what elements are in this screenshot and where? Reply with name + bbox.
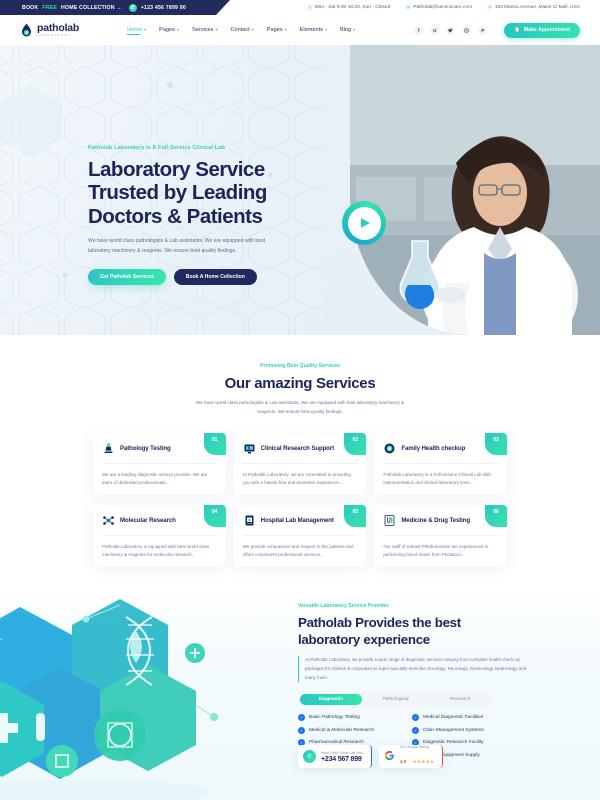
service-card-text: Patholab Laboratory is a Full-Service Cl… — [383, 471, 498, 488]
phone-card-label: Need Help? Book Lab Visit — [321, 751, 363, 755]
hero-title-line-1: Laboratory Service — [88, 158, 318, 181]
service-card[interactable]: 02 Clinical Research Support At Patholab… — [234, 433, 367, 495]
divider — [102, 535, 217, 536]
top-bar-cta-suffix: HOME COLLECTION → — [61, 5, 122, 11]
about-title-line-2: laboratory experience — [298, 631, 548, 648]
hero-title-line-2: Trusted by Leading — [88, 181, 318, 204]
tab-diagnostic[interactable]: Diagnostic — [300, 694, 363, 705]
divider — [383, 463, 498, 464]
tab-pathological[interactable]: Pathological — [364, 694, 427, 705]
clock-icon: ◷ — [307, 5, 311, 11]
checklist-item: ✓ Basic Pathology Testing — [298, 714, 406, 721]
nav-item-home[interactable]: Home ▾ — [127, 27, 146, 34]
chevron-down-icon: ▾ — [252, 27, 254, 32]
get-patholab-services-button[interactable]: Get Patholab Services — [88, 269, 166, 285]
checklist-item: ✓ Clinic Management Systems — [412, 727, 538, 734]
landing-page: BOOK FREE HOME COLLECTION → ✆ +123 456 7… — [0, 0, 600, 800]
service-card-text: We are a leading diagnostic service prov… — [102, 471, 217, 488]
service-card[interactable]: 06 Medicine & Drug Testing Our staff of … — [374, 505, 507, 567]
logo-subtitle: LABORATORY — [37, 34, 79, 37]
check-icon: ✓ — [412, 714, 419, 721]
nav-item-home-label: Home — [127, 27, 142, 33]
google-icon — [384, 750, 395, 764]
top-bar-info: ◷ Mon - Sat 8.00-18.00, Sun - Closed ✉ P… — [216, 0, 600, 15]
top-bar-address: ⚲ 183 Marina Avenue, Miami Ci Mall, USA — [488, 5, 580, 11]
checklist-item-label: Basic Pathology Testing — [309, 715, 360, 720]
family-health-icon — [383, 442, 396, 455]
check-icon: ✓ — [412, 727, 419, 734]
service-card[interactable]: 03 Family Health checkup Patholab Labora… — [374, 433, 507, 495]
hero-content: Patholab Laboratory Is A Full-Service Cl… — [88, 145, 318, 285]
top-bar: BOOK FREE HOME COLLECTION → ✆ +123 456 7… — [0, 0, 600, 15]
drug-test-icon — [383, 514, 396, 527]
services-title: Our amazing Services — [0, 375, 600, 392]
divider — [383, 535, 498, 536]
service-card-title: Pathology Testing — [120, 445, 171, 452]
top-bar-cta[interactable]: BOOK FREE HOME COLLECTION → ✆ +123 456 7… — [0, 0, 216, 15]
top-bar-address-text: 183 Marina Avenue, Miami Ci Mall, USA — [495, 5, 580, 10]
checklist-item-label: Medical Diagnostic Facilities — [423, 715, 483, 720]
chevron-down-icon: ▾ — [325, 27, 327, 32]
google-rating-card[interactable]: Our Google Rating 4.9 ★★★★★ — [379, 745, 443, 768]
google-icon[interactable]: G — [430, 26, 439, 35]
chevron-down-icon: ▾ — [177, 27, 179, 32]
rating-value: 4.9 — [400, 759, 406, 764]
tab-research[interactable]: Research — [429, 694, 492, 705]
services-description: We have world class pathologists & Lab a… — [195, 399, 405, 416]
about-title-line-1: Patholab Provides the best — [298, 614, 548, 631]
services-eyebrow: Promising Best Quality Services — [0, 363, 600, 369]
hospital-report-icon — [243, 514, 256, 527]
nav-item-services-label: Services — [192, 27, 213, 33]
twitter-icon[interactable] — [446, 26, 455, 35]
nav-item-services[interactable]: Services ▾ — [192, 27, 217, 34]
service-card[interactable]: 05 Hospital Lab Management We provide co… — [234, 505, 367, 567]
scientist-photo — [350, 45, 600, 335]
about-eyebrow: Versatile Laboratory Service Provider — [298, 603, 548, 609]
top-bar-phone[interactable]: +123 456 7899 90 — [141, 5, 186, 11]
phone-card-value: +234 567 899 — [321, 756, 363, 763]
services-section: Promising Best Quality Services Our amaz… — [0, 335, 600, 585]
mail-icon: ✉ — [406, 5, 410, 11]
hero-title-line-3: Doctors & Patients — [88, 205, 318, 228]
nav-item-elements[interactable]: Elements ▾ — [300, 27, 327, 34]
pinterest-icon[interactable]: P — [478, 26, 487, 35]
service-card-title: Clinical Research Support — [261, 445, 334, 452]
divider — [102, 463, 217, 464]
service-card-title: Molecular Research — [120, 517, 176, 524]
about-info-cards: ✆ Need Help? Book Lab Visit +234 567 899 — [298, 745, 443, 768]
service-card-number: 03 — [485, 433, 507, 455]
service-card-text: Our staff of trained Phlebotomists are e… — [383, 543, 498, 560]
service-card-number: 05 — [344, 505, 366, 527]
phone-icon: ✆ — [129, 4, 137, 12]
nav-item-pages[interactable]: Pages ▾ — [159, 27, 179, 34]
hero-eyebrow: Patholab Laboratory Is A Full-Service Cl… — [88, 145, 318, 151]
service-cards: 01 Pathology Testing We are a leading di… — [93, 433, 507, 567]
calendar-icon: 📋 — [514, 27, 520, 33]
service-card-number: 02 — [344, 433, 366, 455]
facebook-icon[interactable]: f — [414, 26, 423, 35]
hero-buttons: Get Patholab Services Book A Home Collec… — [88, 269, 318, 285]
checklist-item: ✓ Medical Diagnostic Facilities — [412, 714, 538, 721]
about-title: Patholab Provides the best laboratory ex… — [298, 614, 548, 648]
hero-section: Patholab Laboratory Is A Full-Service Cl… — [0, 45, 600, 335]
social-links: f G P 📋 Make Appointment — [414, 23, 580, 38]
hero-description: We have world class pathologists & Lab a… — [88, 237, 288, 256]
hero-title: Laboratory Service Trusted by Leading Do… — [88, 158, 318, 228]
nav-item-pages-2-label: Pages — [267, 27, 283, 33]
checklist-item-label: Clinic Management Systems — [423, 728, 484, 733]
check-icon: ✓ — [298, 714, 305, 721]
top-bar-email-text: Patholab@servicecare.com — [413, 5, 472, 10]
service-card-text: At Patholab Laboratory, we are committed… — [243, 471, 358, 488]
top-bar-email[interactable]: ✉ Patholab@servicecare.com — [406, 5, 472, 11]
chevron-down-icon: ▾ — [215, 27, 217, 32]
service-card[interactable]: 01 Pathology Testing We are a leading di… — [93, 433, 226, 495]
nav-item-contact-label: Contact — [230, 27, 249, 33]
top-bar-hours: ◷ Mon - Sat 8.00-18.00, Sun - Closed — [307, 5, 390, 11]
rating-card-label: Our Google Rating — [400, 745, 434, 749]
nav-item-pages-2[interactable]: Pages ▾ — [267, 27, 287, 34]
service-card[interactable]: 04 Molecular Research Patholab Laborator… — [93, 505, 226, 567]
nav-item-contact[interactable]: Contact ▾ — [230, 27, 253, 34]
service-card-text: We provide compassion and respect to the… — [243, 543, 358, 560]
logo[interactable]: patholab LABORATORY — [20, 23, 79, 38]
chevron-down-icon: ▾ — [285, 27, 287, 32]
lab-illustration — [0, 595, 240, 800]
checklist-item: ✓ Medical & Molecular Research — [298, 727, 406, 734]
make-appointment-label: Make Appointment — [524, 27, 570, 33]
top-bar-cta-prefix: BOOK — [22, 5, 38, 11]
check-icon: ✓ — [298, 727, 305, 734]
main-nav: Home ▾ Pages ▾ Services ▾ Contact ▾ Page… — [127, 27, 355, 34]
phone-icon: ✆ — [303, 750, 316, 763]
service-card-title: Family Health checkup — [401, 445, 465, 452]
checklist-item-label: Medical & Molecular Research — [309, 728, 374, 733]
divider — [243, 463, 358, 464]
top-bar-cta-free: FREE — [42, 5, 57, 11]
divider — [243, 535, 358, 536]
research-lab-icon — [243, 442, 256, 455]
play-icon — [361, 218, 370, 228]
flask-drop-logo-icon — [20, 23, 33, 38]
rating-stars: ★★★★★ — [413, 759, 435, 764]
make-appointment-button[interactable]: 📋 Make Appointment — [504, 23, 580, 38]
site-header: patholab LABORATORY Home ▾ Pages ▾ Servi… — [0, 15, 600, 45]
logo-name: patholab — [37, 23, 79, 34]
about-quote: At Patholab Laboratory, we provide a wid… — [298, 656, 530, 682]
service-card-title: Medicine & Drug Testing — [401, 517, 470, 524]
chevron-down-icon: ▾ — [144, 27, 146, 32]
service-card-number: 04 — [204, 505, 226, 527]
service-card-number: 01 — [204, 433, 226, 455]
play-video-button[interactable] — [348, 207, 381, 240]
service-card-text: Patholab Laboratory is equipped with bes… — [102, 543, 217, 560]
instagram-icon[interactable] — [462, 26, 471, 35]
microscope-icon — [102, 442, 115, 455]
nav-item-elements-label: Elements — [300, 27, 323, 33]
location-icon: ⚲ — [488, 5, 492, 11]
nav-item-blog-label: Blog — [340, 27, 351, 33]
phone-info-card[interactable]: ✆ Need Help? Book Lab Visit +234 567 899 — [298, 745, 372, 768]
top-bar-hours-text: Mon - Sat 8.00-18.00, Sun - Closed — [315, 5, 390, 10]
molecule-icon — [102, 514, 115, 527]
about-content: Versatile Laboratory Service Provider Pa… — [298, 603, 548, 758]
book-home-collection-button[interactable]: Book A Home Collection — [174, 269, 257, 285]
about-section: Versatile Laboratory Service Provider Pa… — [0, 585, 600, 800]
nav-item-blog[interactable]: Blog ▾ — [340, 27, 355, 34]
hero-image — [350, 45, 600, 335]
nav-item-pages-label: Pages — [159, 27, 175, 33]
chevron-down-icon: ▾ — [353, 27, 355, 32]
service-card-title: Hospital Lab Management — [261, 517, 334, 524]
about-tabs: Diagnostic Pathological Research — [298, 692, 493, 706]
service-card-number: 06 — [485, 505, 507, 527]
